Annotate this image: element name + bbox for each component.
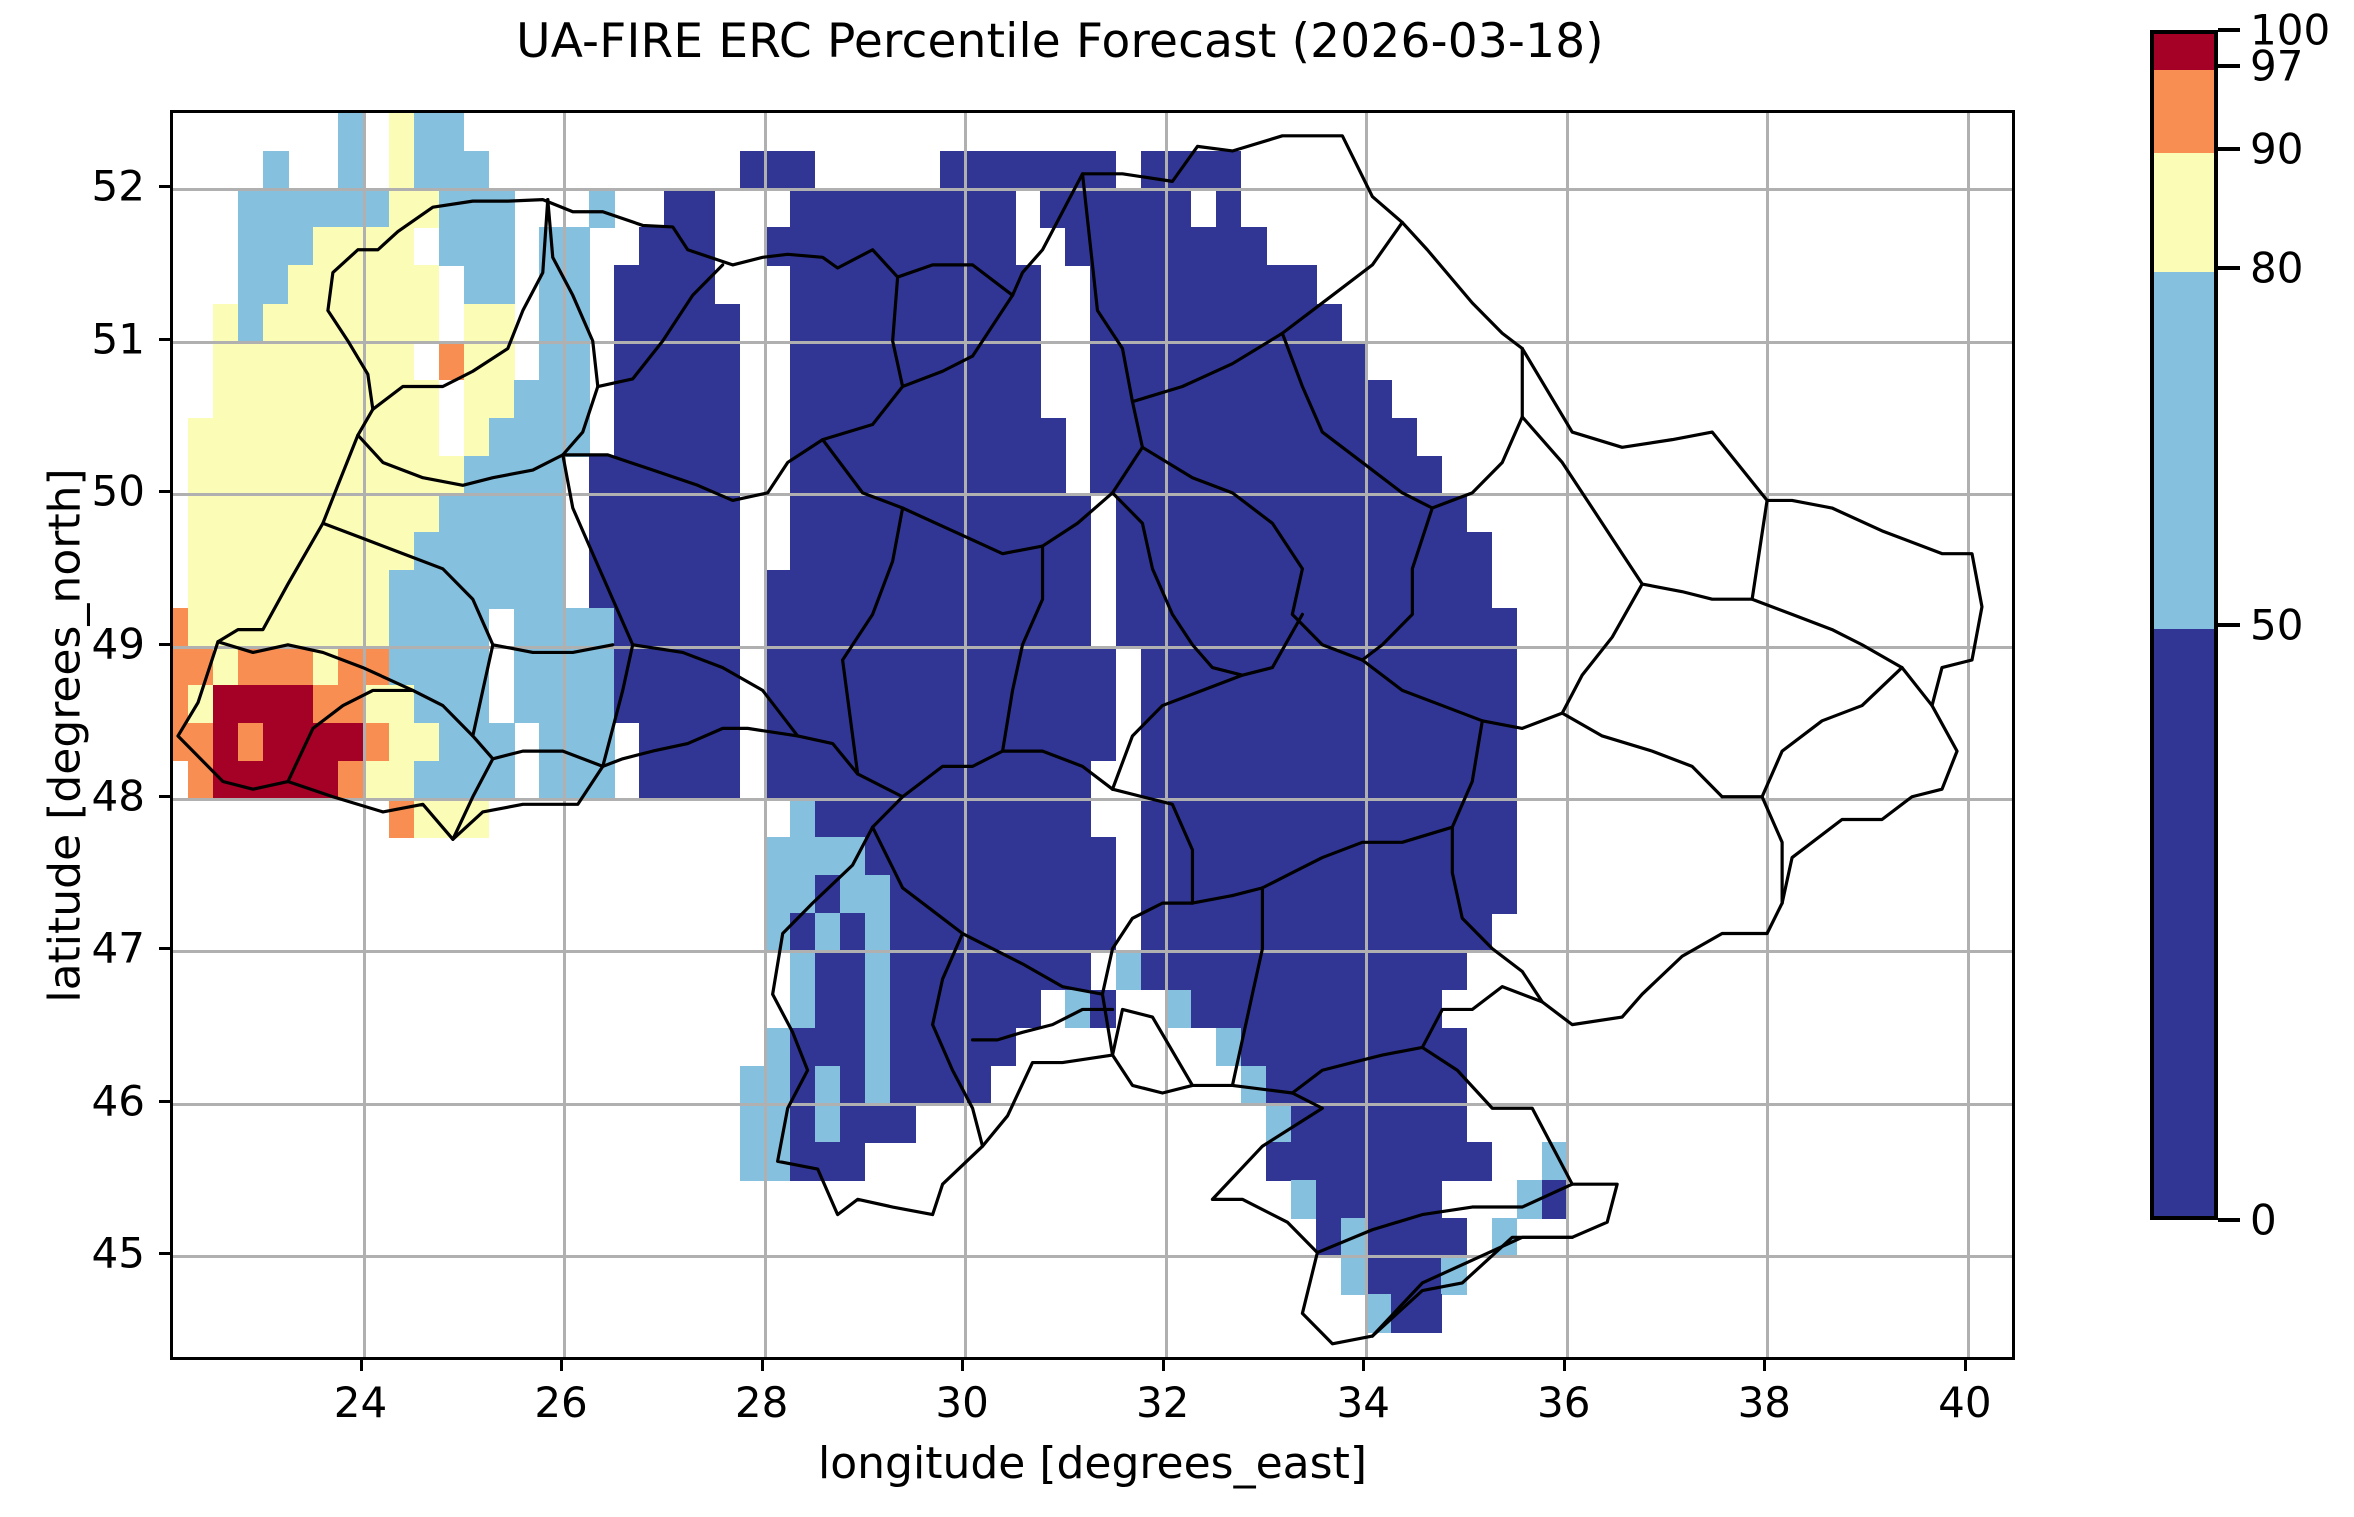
border-polyline <box>1232 827 1452 895</box>
border-polyline <box>598 265 723 387</box>
border-polyline <box>1292 1047 1422 1093</box>
colorbar-tick-label: 50 <box>2250 601 2303 650</box>
border-polyline <box>563 277 903 500</box>
colorbar-tick-mark <box>2218 28 2240 32</box>
colorbar-segment-90 <box>2154 70 2214 153</box>
colorbar <box>2150 30 2218 1220</box>
border-polyline <box>1003 546 1043 751</box>
colorbar-tick-mark <box>2218 64 2240 68</box>
y-tick-mark <box>159 643 170 646</box>
colorbar-tick-mark <box>2218 623 2240 627</box>
border-polyline <box>1762 668 1902 797</box>
x-tick-mark <box>1162 1360 1165 1371</box>
x-tick-label: 26 <box>534 1378 587 1427</box>
x-tick-label: 28 <box>735 1378 788 1427</box>
border-polyline <box>358 435 563 485</box>
border-polyline <box>1142 447 1362 660</box>
border-polyline <box>903 295 1013 386</box>
border-polyline <box>1132 222 1402 401</box>
border-polyline <box>1232 888 1262 1086</box>
border-polyline <box>1317 1184 1572 1252</box>
border-polyline <box>1102 896 1232 1055</box>
y-tick-mark <box>159 185 170 188</box>
x-tick-label: 36 <box>1537 1378 1590 1427</box>
x-tick-label: 32 <box>1136 1378 1189 1427</box>
y-tick-mark <box>159 947 170 950</box>
border-polyline <box>563 455 633 766</box>
border-polyline <box>873 827 1103 994</box>
border-polyline <box>1722 797 1782 903</box>
border-polyline <box>493 645 613 653</box>
x-axis-title: longitude [degrees_east] <box>170 1438 2015 1489</box>
x-tick-mark <box>1964 1360 1967 1371</box>
x-tick-mark <box>1763 1360 1766 1371</box>
colorbar-tick-mark <box>2218 1218 2240 1222</box>
x-tick-label: 34 <box>1336 1378 1389 1427</box>
border-polyline <box>548 200 598 455</box>
border-polyline <box>218 642 413 691</box>
colorbar-tick-label: 80 <box>2250 244 2303 293</box>
border-polyline <box>903 751 1113 797</box>
colorbar-tick-mark <box>2218 266 2240 270</box>
colorbar-tick-label: 97 <box>2250 41 2303 90</box>
border-polyline <box>178 136 1982 1344</box>
x-tick-mark <box>961 1360 964 1371</box>
figure-canvas: UA-FIRE ERC Percentile Forecast (2026-03… <box>0 0 2354 1517</box>
x-tick-label: 38 <box>1738 1378 1791 1427</box>
country-borders-overlay <box>173 113 2012 1359</box>
colorbar-segment-80 <box>2154 153 2214 272</box>
border-polyline <box>1113 614 1303 789</box>
colorbar-segment-97 <box>2154 34 2214 70</box>
x-tick-mark <box>560 1360 563 1371</box>
border-polyline <box>1362 508 1432 660</box>
border-polyline <box>1372 1237 1572 1336</box>
border-polyline <box>1452 721 1542 1002</box>
x-tick-label: 40 <box>1938 1378 1991 1427</box>
border-polyline <box>453 751 603 839</box>
border-polyline <box>843 508 903 774</box>
border-polyline <box>823 174 1143 554</box>
y-tick-mark <box>159 490 170 493</box>
border-polyline <box>1113 1055 1193 1093</box>
border-polyline <box>1113 493 1243 675</box>
colorbar-segment-0 <box>2154 629 2214 1220</box>
map-plot-area <box>170 110 2015 1360</box>
x-tick-mark <box>1563 1360 1566 1371</box>
y-tick-mark <box>159 1252 170 1255</box>
colorbar-tick-label: 90 <box>2250 125 2303 174</box>
colorbar-tick-mark <box>2218 147 2240 151</box>
x-tick-mark <box>360 1360 363 1371</box>
border-polyline <box>973 1009 1113 1039</box>
x-tick-label: 30 <box>935 1378 988 1427</box>
x-tick-mark <box>761 1360 764 1371</box>
border-polyline <box>1362 660 1562 728</box>
colorbar-tick-label: 0 <box>2250 1196 2277 1245</box>
y-tick-mark <box>159 1100 170 1103</box>
border-polyline <box>1562 584 1722 797</box>
border-polyline <box>1752 599 1932 705</box>
border-polyline <box>288 690 493 781</box>
border-polyline <box>1113 789 1193 903</box>
y-tick-mark <box>159 338 170 341</box>
y-tick-mark <box>159 795 170 798</box>
border-polyline <box>633 645 798 736</box>
border-polyline <box>1282 333 1522 508</box>
x-tick-label: 24 <box>334 1378 387 1427</box>
y-axis-title: latitude [degrees_north] <box>40 111 91 1361</box>
x-tick-mark <box>1362 1360 1365 1371</box>
chart-title: UA-FIRE ERC Percentile Forecast (2026-03… <box>0 14 2120 69</box>
colorbar-segment-50 <box>2154 272 2214 629</box>
